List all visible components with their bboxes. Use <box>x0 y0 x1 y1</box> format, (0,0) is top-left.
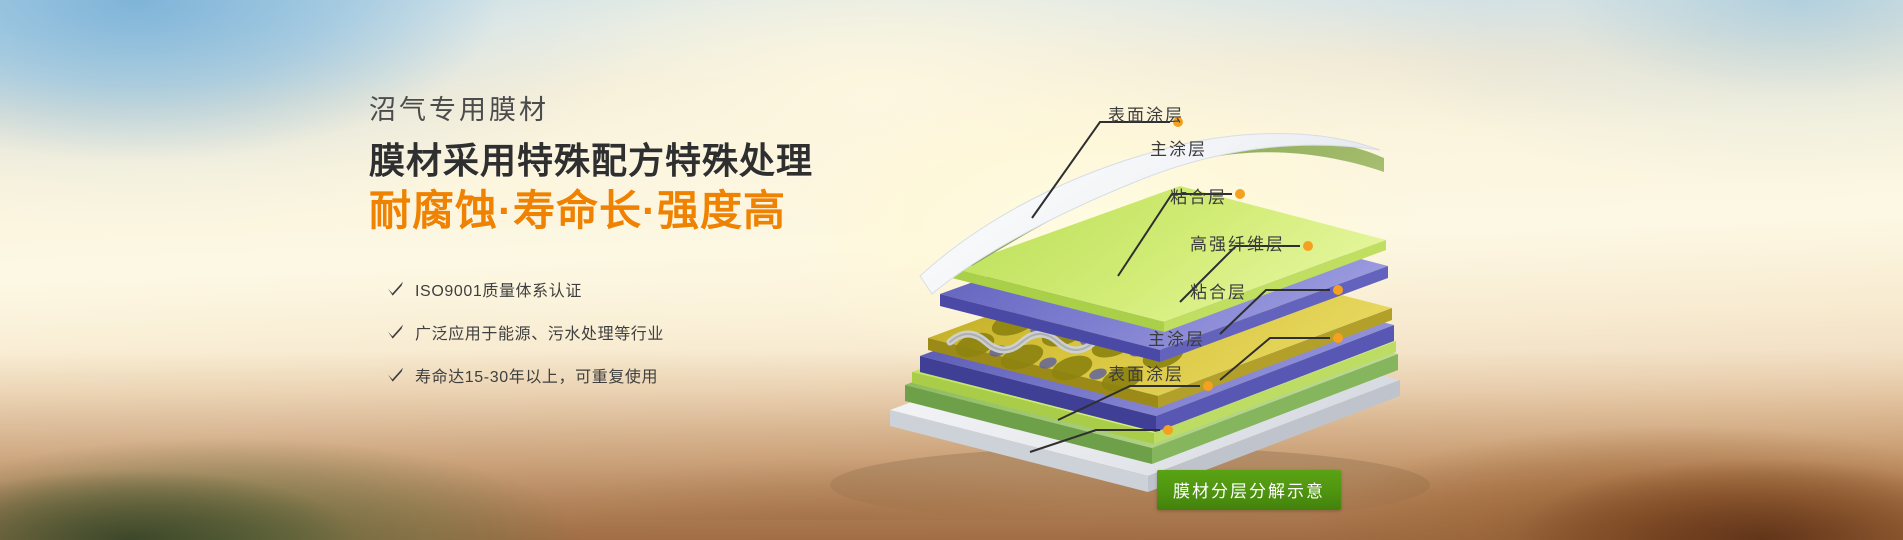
background-hill-left-dark <box>0 435 430 540</box>
feature-label: ISO9001质量体系认证 <box>415 277 582 301</box>
callout-label-main-coat-bottom: 主涂层 <box>1148 325 1205 350</box>
callout-label-adhesive-bottom: 粘合层 <box>1190 278 1247 303</box>
membrane-layer-illustration <box>800 80 1900 540</box>
feature-label: 广泛应用于能源、污水处理等行业 <box>415 320 664 344</box>
status-badge: 膜材分层分解示意 <box>1157 470 1341 510</box>
check-tick-icon <box>387 366 404 383</box>
callout-label-surface-coat-top: 表面涂层 <box>1108 101 1184 126</box>
check-tick-icon <box>387 323 404 340</box>
callout-label-surface-coat-bottom: 表面涂层 <box>1108 360 1184 385</box>
callout-label-high-strength-fiber: 高强纤维层 <box>1190 230 1285 255</box>
callout-label-adhesive-top: 粘合层 <box>1170 183 1227 208</box>
callout-label-main-coat-top: 主涂层 <box>1150 135 1207 160</box>
callout-dot <box>1163 117 1343 435</box>
check-tick-icon <box>387 280 404 297</box>
feature-label: 寿命达15-30年以上，可重复使用 <box>415 363 658 387</box>
promo-banner: 沼气专用膜材 膜材采用特殊配方特殊处理 耐腐蚀·寿命长·强度高 ISO9001质… <box>0 0 1903 540</box>
